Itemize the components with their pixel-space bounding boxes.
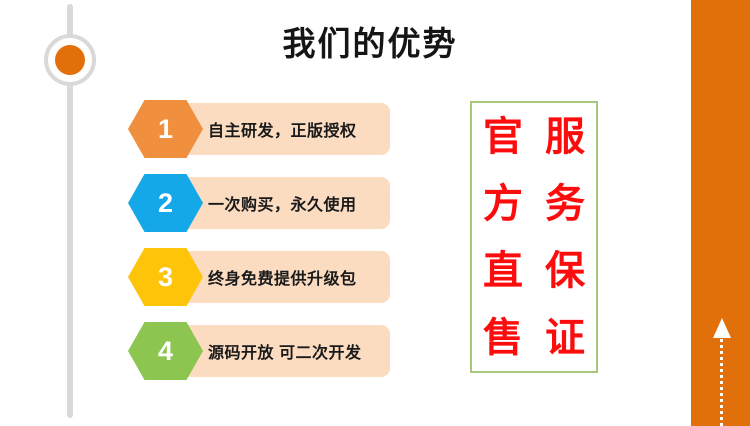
slogan-char-2: 服	[545, 117, 585, 157]
slogan-char-1: 官	[483, 117, 523, 157]
advantage-text-2: 一次购买，永久使用	[208, 174, 357, 232]
right-accent-panel	[691, 0, 750, 426]
slide-canvas: 我们的优势 1 自主研发，正版授权 2 一次购买，永久使用 3 终身免费提供升级…	[0, 0, 750, 426]
arrow-dotted-tail	[720, 339, 723, 426]
advantage-text-4: 源码开放 可二次开发	[208, 322, 361, 380]
page-title: 我们的优势	[200, 22, 540, 66]
slogan-char-8: 证	[545, 318, 585, 358]
slogan-char-3: 方	[483, 184, 523, 224]
advantage-number-3: 3	[128, 248, 203, 306]
up-arrow-icon	[713, 318, 731, 338]
advantage-row-1: 1 自主研发，正版授权	[128, 100, 390, 158]
advantage-number-4: 4	[128, 322, 203, 380]
advantage-text-3: 终身免费提供升级包	[208, 248, 357, 306]
slogan-char-4: 务	[545, 184, 585, 224]
advantage-text-1: 自主研发，正版授权	[208, 100, 357, 158]
slogan-char-6: 保	[545, 251, 585, 291]
advantage-number-2: 2	[128, 174, 203, 232]
timeline-marker-dot	[55, 45, 85, 75]
advantage-row-4: 4 源码开放 可二次开发	[128, 322, 390, 380]
slogan-char-5: 直	[483, 251, 523, 291]
advantage-number-1: 1	[128, 100, 203, 158]
slogan-box: 官 服 方 务 直 保 售 证	[470, 101, 598, 373]
advantage-row-2: 2 一次购买，永久使用	[128, 174, 390, 232]
slogan-char-7: 售	[483, 318, 523, 358]
advantage-row-3: 3 终身免费提供升级包	[128, 248, 390, 306]
